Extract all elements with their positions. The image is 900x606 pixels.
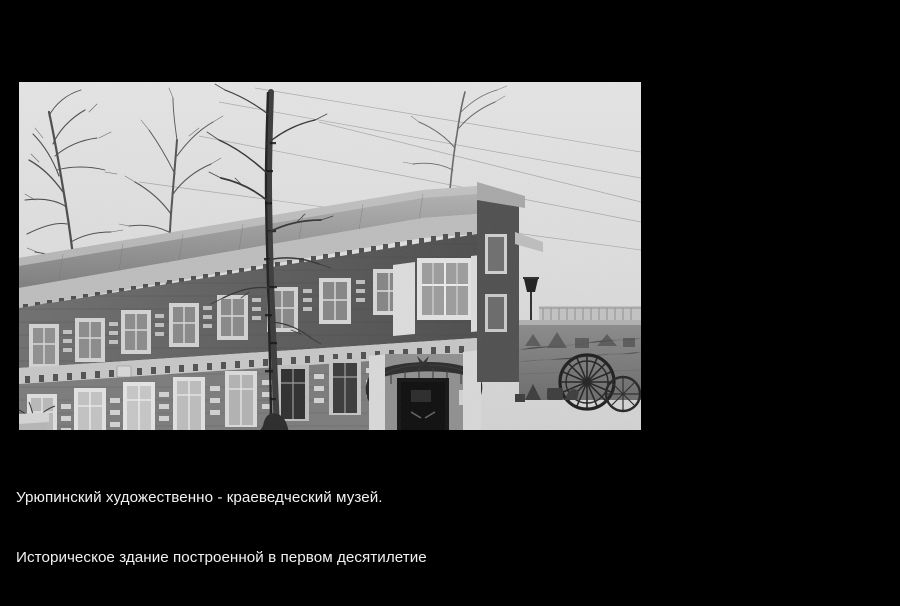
caption-line-1: Урюпинский художественно - краеведческий… (16, 488, 616, 508)
slide-root: Урюпинский художественно - краеведческий… (0, 0, 900, 606)
caption-text: Урюпинский художественно - краеведческий… (16, 448, 616, 606)
film-grain (19, 82, 641, 430)
caption-line-2: Историческое здание построенной в первом… (16, 548, 616, 568)
museum-building-photograph (19, 82, 641, 430)
photo-canvas (19, 82, 641, 430)
